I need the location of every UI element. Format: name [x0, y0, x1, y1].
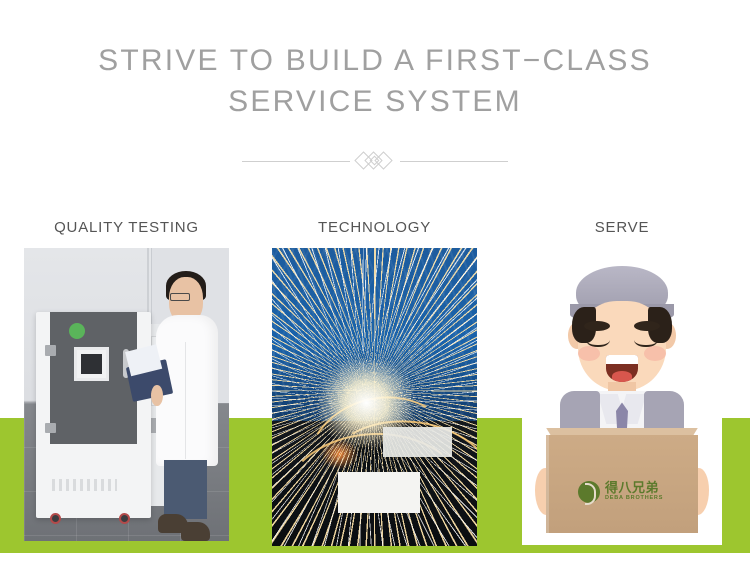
- delivery-man-blush-left: [578, 346, 600, 361]
- technician-hand: [151, 385, 163, 407]
- bright-highlight-lower: [338, 472, 420, 514]
- technician-trousers: [164, 460, 207, 519]
- chamber-door-panel: [50, 312, 137, 443]
- technician-glasses: [170, 293, 191, 301]
- box-brand-chinese: 得八兄弟: [605, 481, 663, 494]
- feature-columns: QUALITY TESTING: [0, 0, 750, 574]
- delivery-man-illustration: 得八兄弟 DEBA BROTHERS: [522, 248, 722, 545]
- delivery-man-teeth: [606, 355, 638, 364]
- delivery-man-eyebrow-right: [634, 321, 660, 331]
- chamber-window-glass: [81, 354, 102, 374]
- chamber-viewing-window: [74, 347, 109, 381]
- box-brand-logo: 得八兄弟 DEBA BROTHERS: [578, 474, 670, 510]
- delivery-man-blush-right: [644, 346, 666, 361]
- lab-technician: [151, 271, 225, 541]
- serve-photo: 得八兄弟 DEBA BROTHERS: [522, 248, 722, 545]
- feature-column-serve: SERVE: [522, 218, 722, 545]
- feature-column-technology: TECHNOLOGY: [272, 218, 477, 546]
- bright-highlight-upper: [383, 427, 453, 457]
- column-label-technology: TECHNOLOGY: [272, 218, 477, 248]
- box-brand-english: DEBA BROTHERS: [605, 496, 663, 502]
- chamber-brand-logo-icon: [69, 323, 85, 339]
- feature-column-quality-testing: QUALITY TESTING: [24, 218, 229, 541]
- welding-scene-background: [272, 248, 477, 546]
- caster-wheel-right: [119, 513, 130, 524]
- db-monogram-icon: [578, 481, 600, 503]
- column-label-quality-testing: QUALITY TESTING: [24, 218, 229, 248]
- chamber-hinge-lower: [45, 423, 55, 433]
- delivery-man-mouth: [606, 355, 638, 382]
- chamber-vent-grille: [52, 479, 116, 491]
- lab-coat-seam: [185, 342, 186, 460]
- technology-photo: [272, 248, 477, 546]
- cardboard-box-edge: [546, 435, 549, 533]
- test-chamber: [36, 312, 151, 517]
- column-label-serve: SERVE: [522, 218, 722, 248]
- delivery-man-eyebrow-left: [584, 321, 610, 331]
- box-brand-text: 得八兄弟 DEBA BROTHERS: [605, 481, 663, 502]
- quality-testing-photo: [24, 248, 229, 541]
- delivery-man-tongue: [612, 371, 632, 382]
- technician-shoe-right: [181, 522, 211, 541]
- promo-banner: STRIVE TO BUILD A FIRST−CLASS SERVICE SY…: [0, 0, 750, 574]
- caster-wheel-left: [50, 513, 61, 524]
- chamber-hinge-upper: [45, 345, 55, 355]
